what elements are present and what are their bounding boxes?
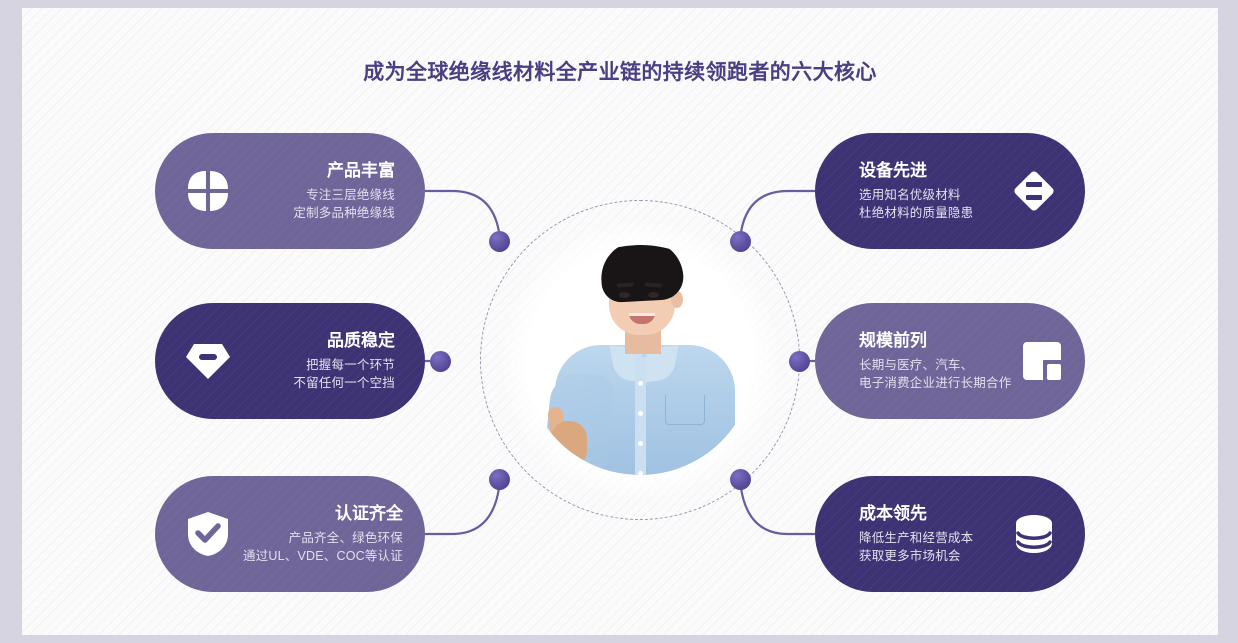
connector-node-left-1 [489,231,510,252]
card-line: 长期与医疗、汽车、 [859,359,1011,372]
connector-node-right-3 [730,469,751,490]
card-text-block: 设备先进 选用知名优级材料 杜绝材料的质量隐患 [859,162,1003,220]
center-hub [480,200,800,520]
card-line: 不留任何一个空挡 [243,377,395,390]
card-line: 专注三层绝缘线 [243,189,395,202]
person-button [638,441,643,446]
card-title: 品质稳定 [243,332,395,350]
card-line: 获取更多市场机会 [859,550,1003,563]
clover-four-petal-icon [183,166,233,216]
card-title: 认证齐全 [243,505,403,523]
page-title: 成为全球绝缘线材料全产业链的持续领跑者的六大核心 [22,56,1218,86]
card-text-block: 规模前列 长期与医疗、汽车、 电子消费企业进行长期合作 [859,332,1011,390]
card-line: 降低生产和经营成本 [859,532,1003,545]
connector-node-right-2 [789,351,810,372]
card-equipment-advanced[interactable]: 设备先进 选用知名优级材料 杜绝材料的质量隐患 [815,133,1085,249]
person-button [638,381,643,386]
card-quality-stable[interactable]: 品质稳定 把握每一个环节 不留任何一个空挡 [155,303,425,419]
card-product-rich[interactable]: 产品丰富 专注三层绝缘线 定制多品种绝缘线 [155,133,425,249]
card-text-block: 认证齐全 产品齐全、绿色环保 通过UL、VDE、COC等认证 [243,505,403,563]
card-line: 杜绝材料的质量隐患 [859,207,1003,220]
gem-diamond-icon [183,336,233,386]
person-button [638,411,643,416]
card-text-block: 成本领先 降低生产和经营成本 获取更多市场机会 [859,505,1003,563]
blocks-square-icon [1017,336,1067,386]
shield-check-icon [183,509,233,559]
card-line: 产品齐全、绿色环保 [243,532,403,545]
person-eye-right [648,292,659,298]
person-hair [599,245,684,303]
connector-node-right-1 [730,231,751,252]
card-line: 通过UL、VDE、COC等认证 [243,550,403,563]
card-text-block: 品质稳定 把握每一个环节 不留任何一个空挡 [243,332,395,390]
connector-node-left-3 [489,469,510,490]
card-line: 选用知名优级材料 [859,189,1003,202]
person-placket [635,357,646,475]
person-eye-left [619,292,630,298]
card-line: 电子消费企业进行长期合作 [859,377,1011,390]
card-title: 产品丰富 [243,162,395,180]
card-line: 把握每一个环节 [243,359,395,372]
person-pocket [665,395,705,425]
card-line: 定制多品种绝缘线 [243,207,395,220]
card-title: 成本领先 [859,505,1003,523]
card-text-block: 产品丰富 专注三层绝缘线 定制多品种绝缘线 [243,162,395,220]
person-button [638,471,643,475]
database-stack-icon [1009,509,1059,559]
person-hand [551,421,587,465]
card-scale-leading[interactable]: 规模前列 长期与医疗、汽车、 电子消费企业进行长期合作 [815,303,1085,419]
connector-node-left-2 [430,351,451,372]
card-title: 设备先进 [859,162,1003,180]
card-title: 规模前列 [859,332,1011,350]
rhombus-bars-icon [1009,166,1059,216]
infographic-canvas: 成为全球绝缘线材料全产业链的持续领跑者的六大核心 [22,8,1218,635]
card-certification-complete[interactable]: 认证齐全 产品齐全、绿色环保 通过UL、VDE、COC等认证 [155,476,425,592]
center-photo [525,245,755,475]
card-cost-leading[interactable]: 成本领先 降低生产和经营成本 获取更多市场机会 [815,476,1085,592]
